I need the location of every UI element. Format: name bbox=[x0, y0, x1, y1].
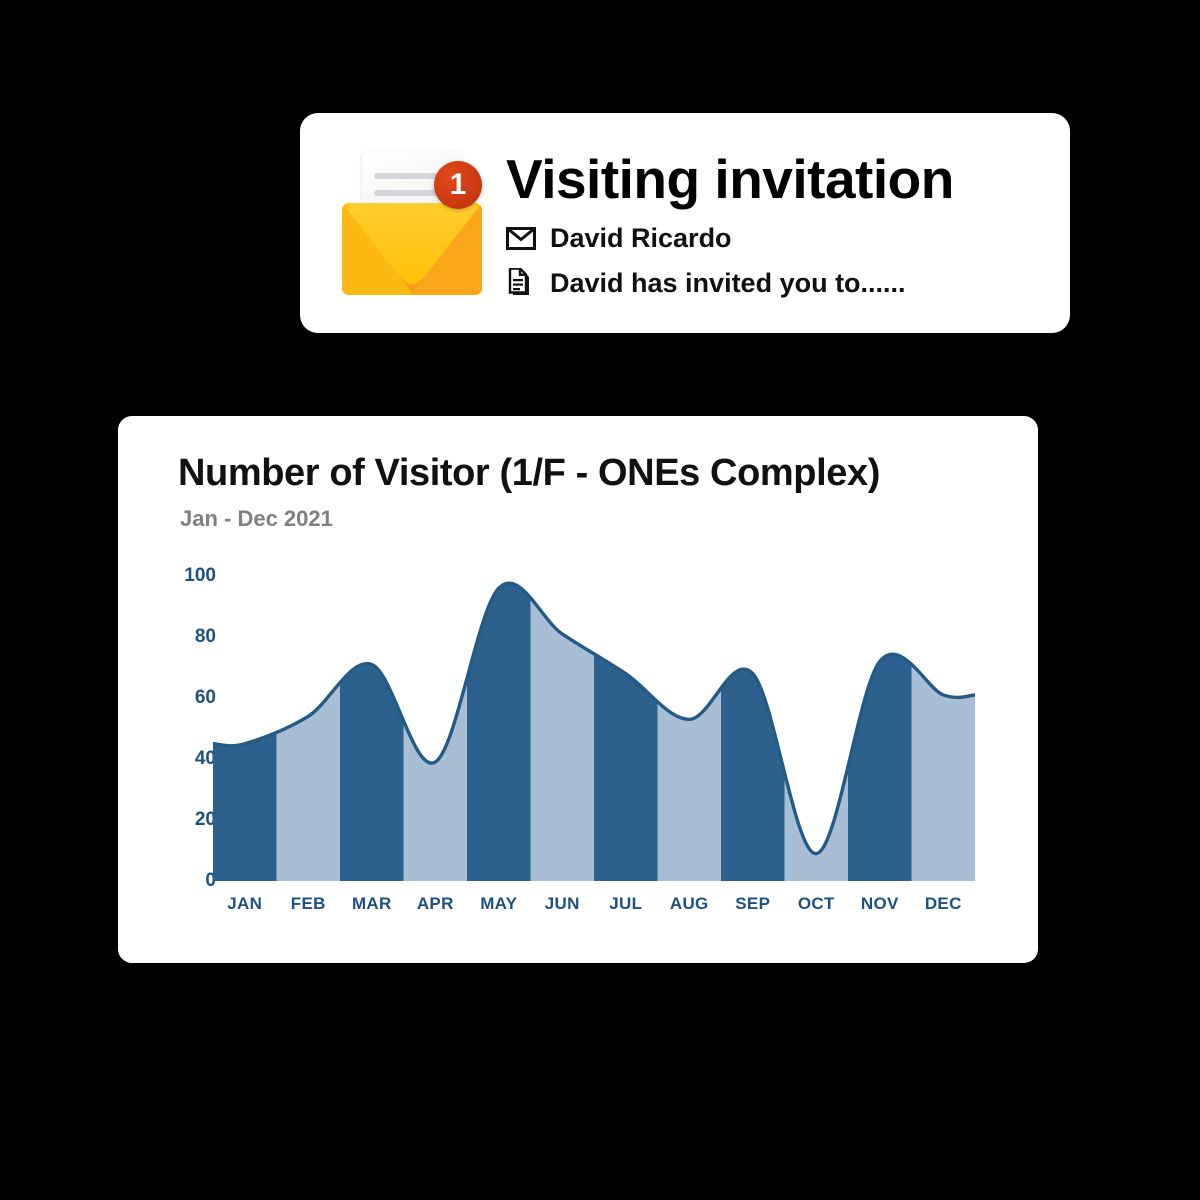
notification-text-block: Visiting invitation David Ricardo bbox=[506, 147, 1070, 299]
x-axis-tick-jul: JUL bbox=[609, 894, 642, 914]
x-axis-tick-apr: APR bbox=[417, 894, 454, 914]
band-oct bbox=[785, 563, 849, 881]
band-dec bbox=[912, 563, 976, 881]
area-fill-bands bbox=[213, 563, 975, 881]
band-jul bbox=[594, 563, 658, 881]
band-may bbox=[467, 563, 531, 881]
notification-sender-row: David Ricardo bbox=[506, 223, 1070, 254]
x-axis-tick-jun: JUN bbox=[545, 894, 580, 914]
notification-card[interactable]: 1 Visiting invitation David Ricardo bbox=[300, 113, 1070, 333]
x-axis-tick-nov: NOV bbox=[861, 894, 899, 914]
notification-title: Visiting invitation bbox=[506, 151, 1070, 209]
envelope-body-icon bbox=[342, 203, 482, 295]
area-chart-graphic bbox=[213, 563, 975, 881]
band-sep bbox=[721, 563, 785, 881]
x-axis-tick-mar: MAR bbox=[352, 894, 392, 914]
x-axis-tick-aug: AUG bbox=[670, 894, 709, 914]
notification-message-row: David has invited you to...... bbox=[506, 268, 1070, 299]
chart-plot-area: 020406080100 JANFEBMARAPRMAYJUNJULAUGSEP… bbox=[118, 416, 1038, 963]
y-axis-tick: 100 bbox=[184, 565, 216, 587]
envelope-right-flap bbox=[410, 203, 482, 295]
y-axis: 020406080100 bbox=[176, 568, 216, 881]
envelope-left-flap bbox=[342, 203, 414, 295]
notification-message-text: David has invited you to...... bbox=[550, 268, 906, 299]
band-apr bbox=[404, 563, 468, 881]
unread-count-badge: 1 bbox=[434, 161, 482, 209]
x-axis: JANFEBMARAPRMAYJUNJULAUGSEPOCTNOVDEC bbox=[213, 894, 975, 920]
x-axis-tick-feb: FEB bbox=[291, 894, 326, 914]
mail-with-letter-icon: 1 bbox=[336, 143, 486, 303]
x-axis-tick-dec: DEC bbox=[925, 894, 962, 914]
x-axis-tick-sep: SEP bbox=[735, 894, 770, 914]
band-jan bbox=[213, 563, 277, 881]
notification-sender-name: David Ricardo bbox=[550, 223, 732, 254]
visitor-chart-card: Number of Visitor (1/F - ONEs Complex) J… bbox=[118, 416, 1038, 963]
envelope-icon bbox=[506, 227, 540, 250]
x-axis-tick-oct: OCT bbox=[798, 894, 835, 914]
band-aug bbox=[658, 563, 722, 881]
document-icon bbox=[506, 268, 540, 298]
x-axis-tick-jan: JAN bbox=[227, 894, 262, 914]
x-axis-tick-may: MAY bbox=[480, 894, 517, 914]
band-feb bbox=[277, 563, 341, 881]
band-mar bbox=[340, 563, 404, 881]
